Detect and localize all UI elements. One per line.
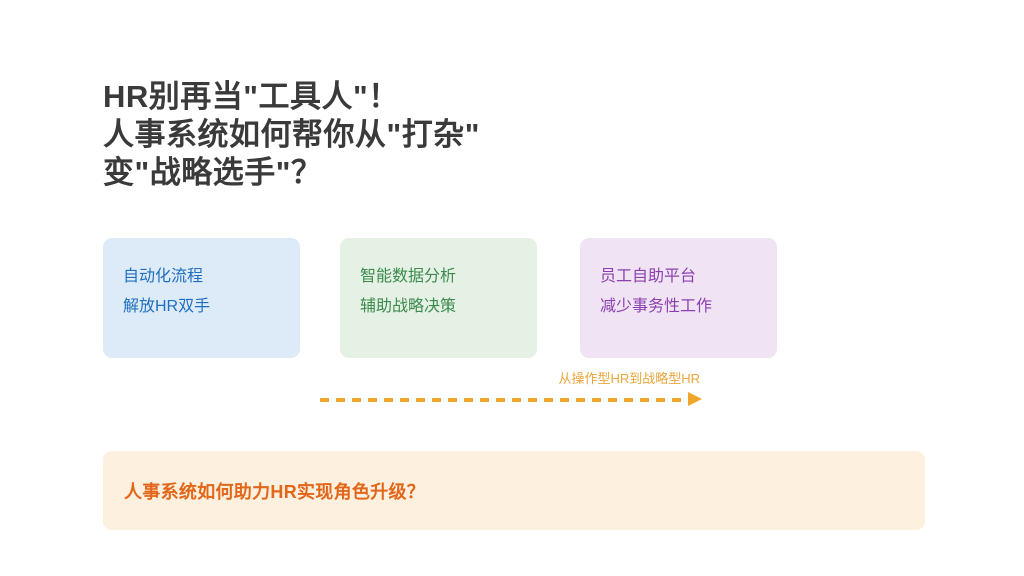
feature-cards-row: 自动化流程 解放HR双手 智能数据分析 辅助战略决策 员工自助平台 减少事务性工… [103, 238, 783, 358]
transition-label: 从操作型HR到战略型HR [558, 368, 700, 387]
transition-indicator: 从操作型HR到战略型HR [320, 368, 708, 412]
feature-card-self-service: 员工自助平台 减少事务性工作 [580, 238, 777, 358]
arrow-dashed-line [320, 398, 688, 402]
title-line-2: 人事系统如何帮你从"打杂" [103, 116, 803, 154]
dashed-arrow-right-icon [320, 394, 708, 408]
banner-text: 人事系统如何助力HR实现角色升级？ [124, 478, 425, 504]
card-data-analysis-line-1: 智能数据分析 [360, 262, 537, 292]
title-line-3: 变"战略选手"？ [103, 154, 803, 192]
card-automation-line-1: 自动化流程 [123, 262, 300, 292]
slide-canvas: HR别再当"工具人"！ 人事系统如何帮你从"打杂" 变"战略选手"？ 自动化流程… [0, 0, 1024, 576]
feature-card-automation: 自动化流程 解放HR双手 [103, 238, 300, 358]
card-self-service-line-2: 减少事务性工作 [600, 292, 777, 322]
title-line-1: HR别再当"工具人"！ [103, 78, 803, 116]
arrow-head-icon [688, 392, 702, 406]
highlight-banner: 人事系统如何助力HR实现角色升级？ [103, 451, 925, 530]
feature-card-data-analysis: 智能数据分析 辅助战略决策 [340, 238, 537, 358]
page-title: HR别再当"工具人"！ 人事系统如何帮你从"打杂" 变"战略选手"？ [103, 78, 803, 192]
card-self-service-line-1: 员工自助平台 [600, 262, 777, 292]
card-automation-line-2: 解放HR双手 [123, 292, 300, 322]
card-data-analysis-line-2: 辅助战略决策 [360, 292, 537, 322]
